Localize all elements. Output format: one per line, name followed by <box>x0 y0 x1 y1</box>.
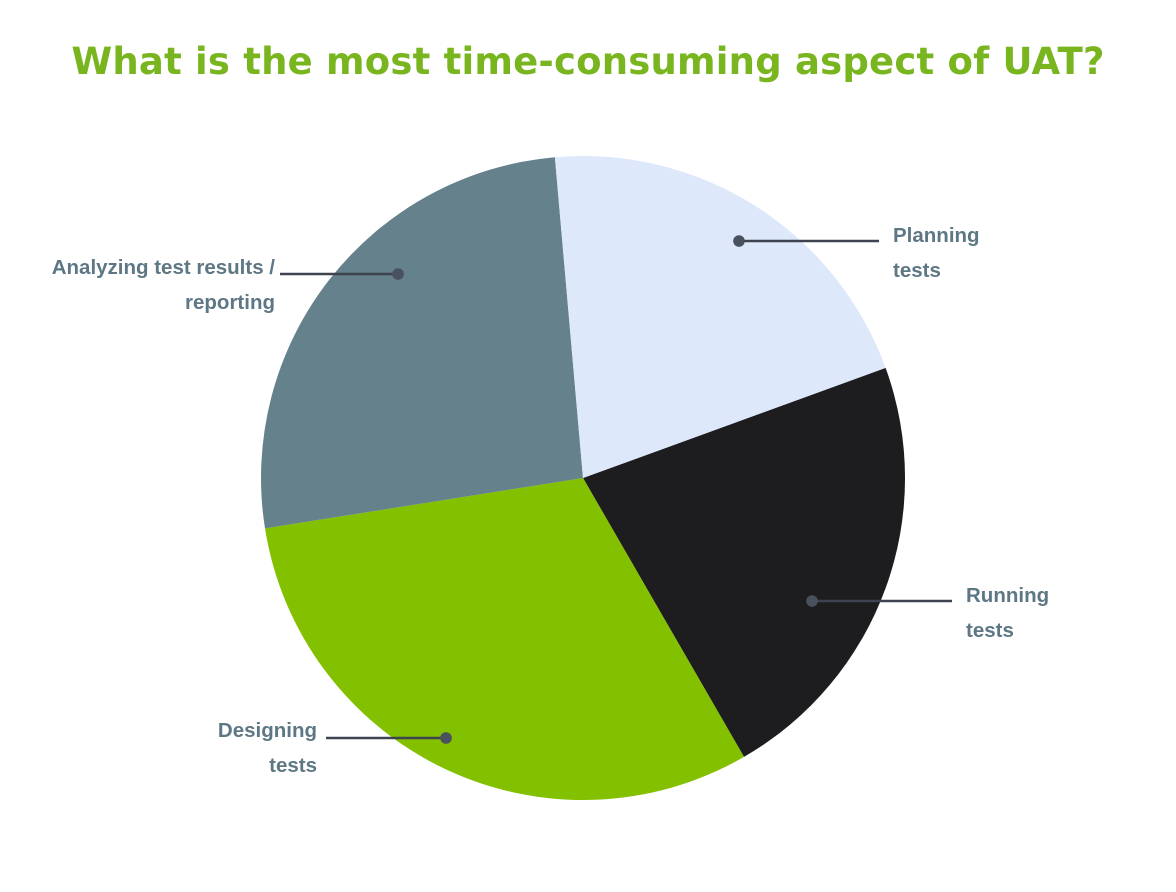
pie-label-planning-tests: Planning tests <box>893 218 1073 289</box>
pie-chart-figure: What is the most time-consuming aspect o… <box>0 0 1176 892</box>
pie-label-analyzing-test-results: Analyzing test results / reporting <box>10 250 275 321</box>
pie-slice-designing[interactable] <box>261 157 583 528</box>
pie-label-designing-tests: Designing tests <box>60 713 317 784</box>
pie-label-running-tests: Running tests <box>966 578 1156 649</box>
